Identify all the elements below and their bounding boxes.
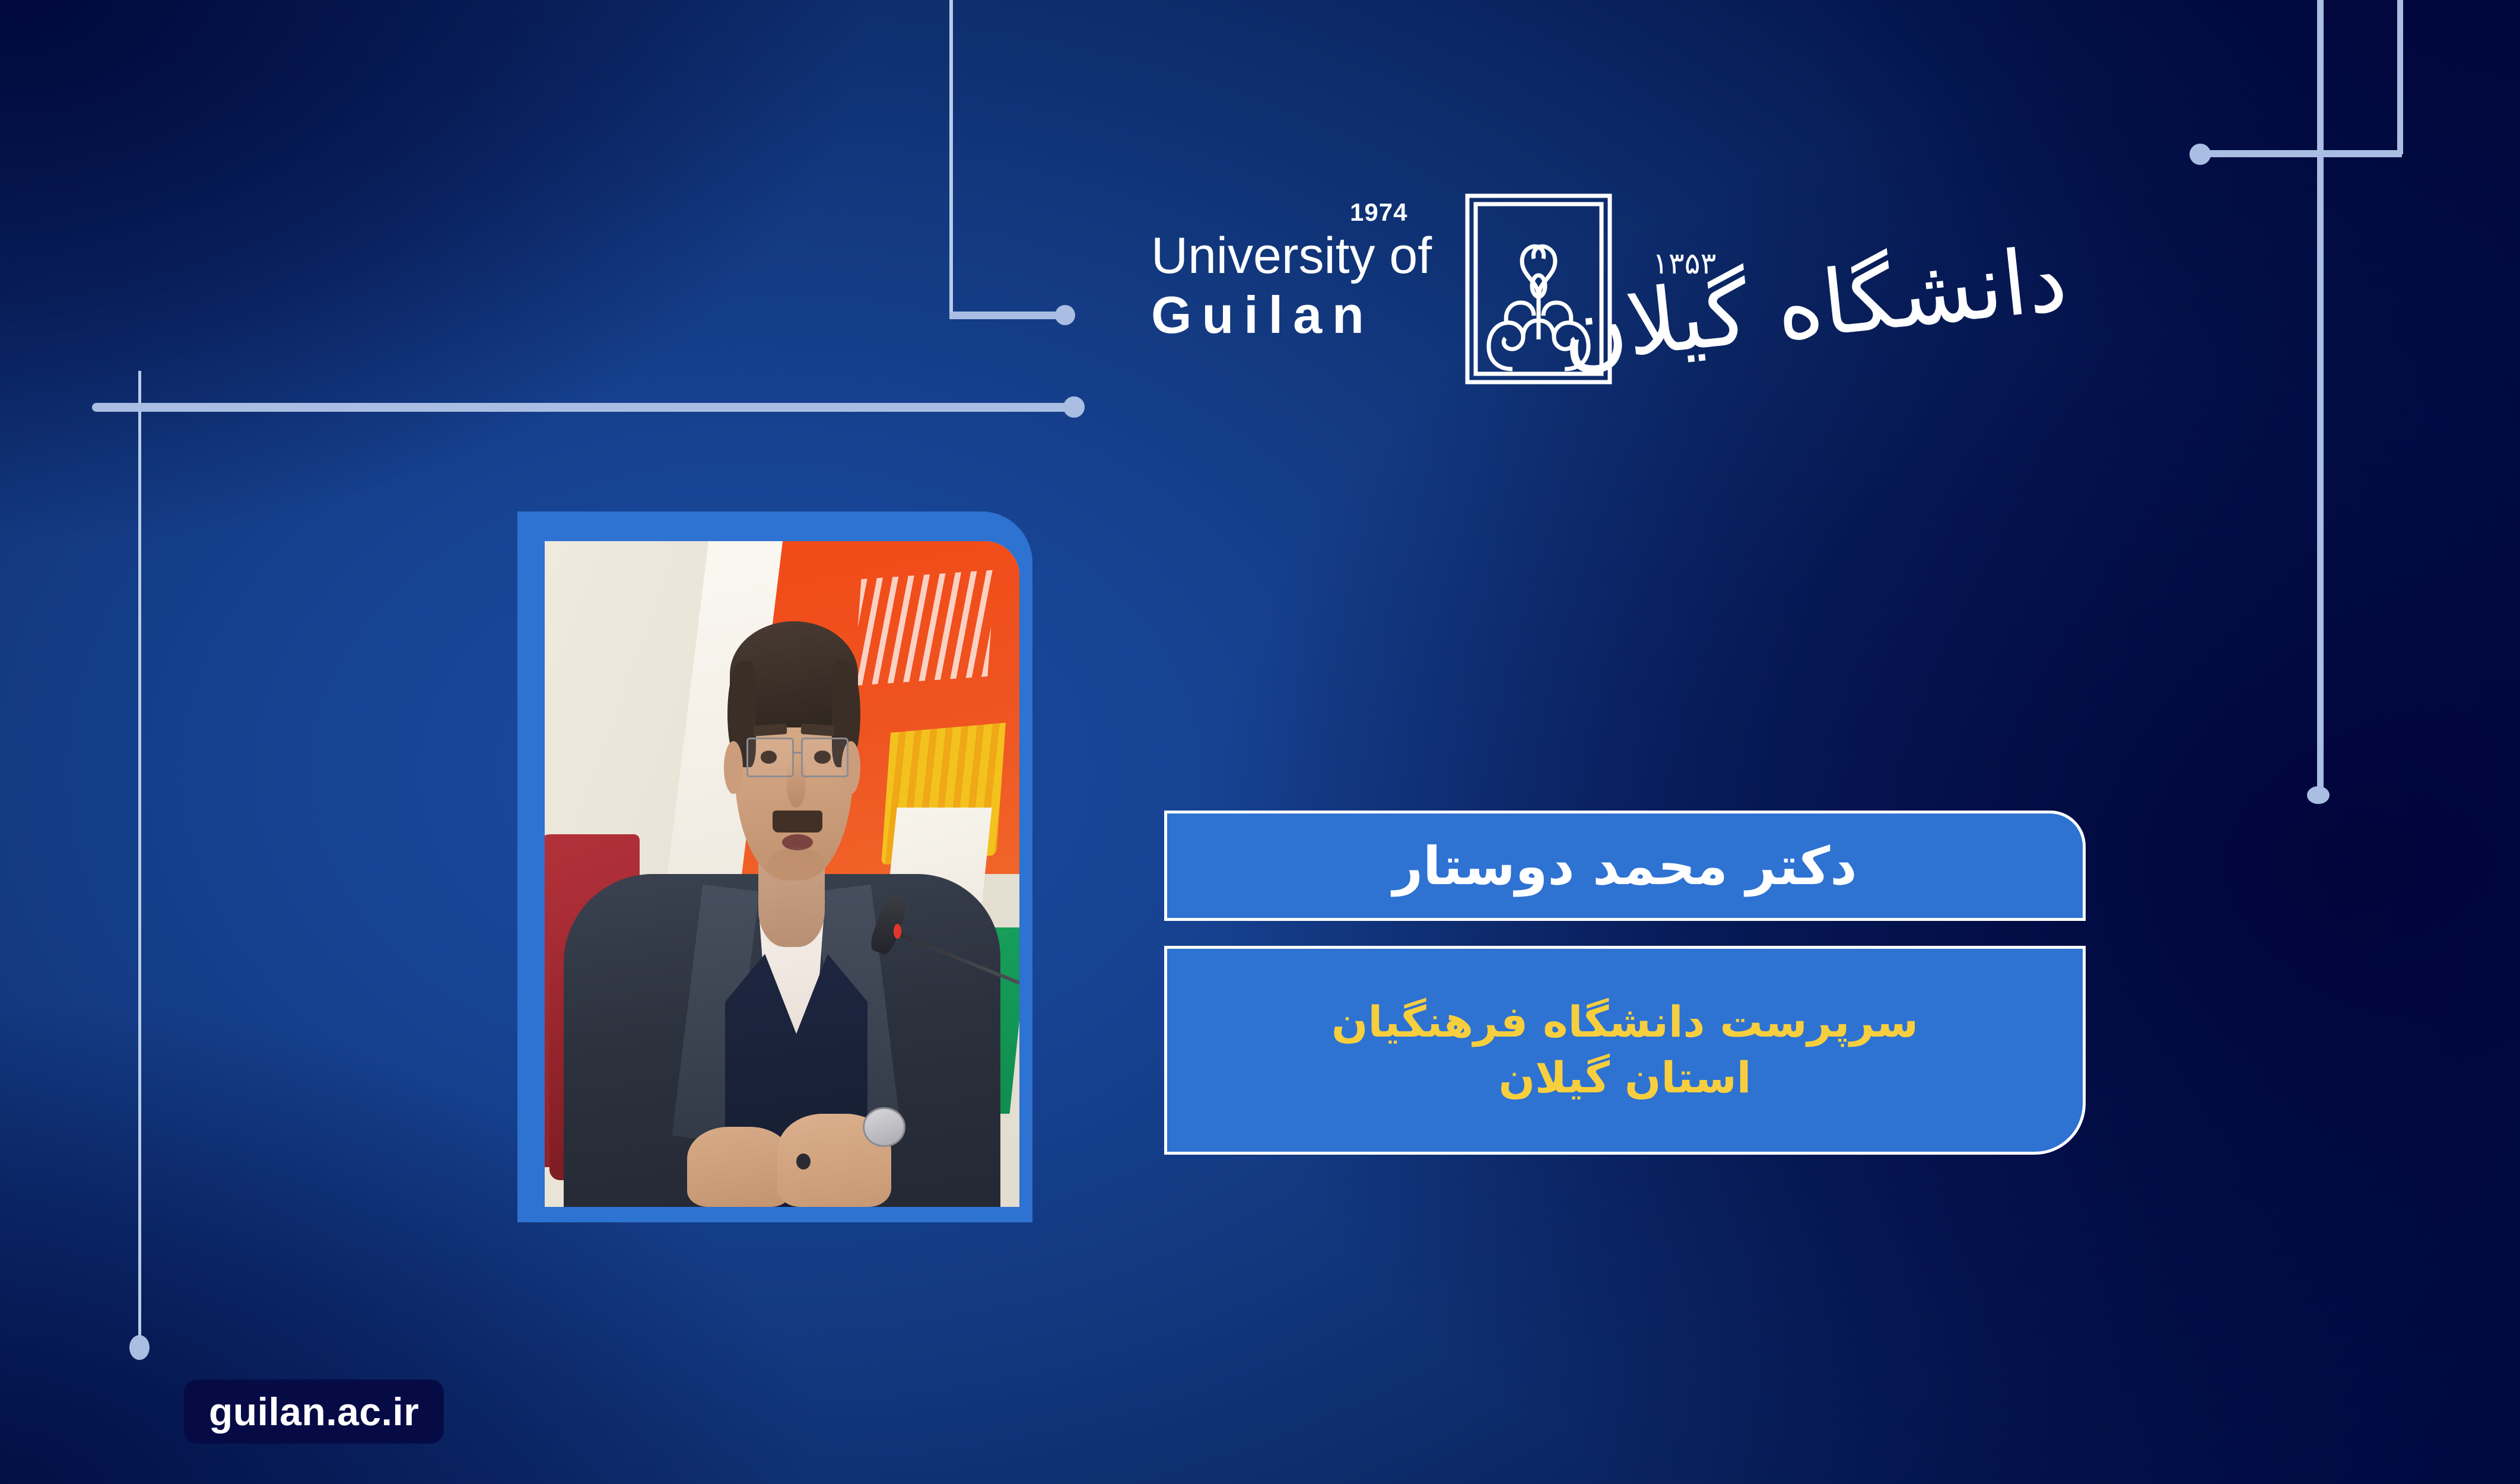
logo-persian-name: دانشگاه گیلان: [1711, 208, 2077, 416]
photo-moustache: [773, 811, 822, 832]
decor-dot-left-horizontal: [1063, 396, 1085, 418]
decor-dot-center-horizontal: [1055, 305, 1075, 325]
website-badge[interactable]: guilan.ac.ir: [184, 1380, 444, 1444]
person-title-line1: سرپرست دانشگاه فرهنگیان: [1331, 994, 1918, 1050]
website-url-text: guilan.ac.ir: [209, 1389, 419, 1434]
decor-vertical-line-right-upper: [2397, 0, 2403, 154]
decor-horizontal-line-right: [2200, 150, 2402, 157]
banner-canvas: 1974 University of Guilan ۱۳۵۳ دانش: [0, 0, 2520, 1484]
person-name-text: دکتر محمد دوستار: [1393, 835, 1857, 897]
decor-dot-right-vertical: [2307, 786, 2330, 804]
decor-dot-bottomleft: [129, 1335, 150, 1360]
decor-vertical-line-right-long: [2317, 0, 2324, 795]
photo-flag-script: [854, 570, 995, 685]
portrait-frame: [517, 511, 1032, 1222]
photo-eyebrow-right: [800, 723, 834, 736]
decor-horizontal-line-left: [92, 403, 1074, 412]
person-title-box: سرپرست دانشگاه فرهنگیان استان گیلان: [1164, 946, 2086, 1155]
university-logo: 1974 University of Guilan ۱۳۵۳ دانش: [1151, 196, 2065, 392]
photo-hand-left: [687, 1127, 792, 1207]
person-name-box: دکتر محمد دوستار: [1164, 811, 2086, 921]
photo-eyebrow-left: [753, 723, 787, 736]
decor-vertical-line-center: [949, 0, 953, 314]
photo-chin-shadow: [768, 847, 825, 881]
decor-horizontal-line-center: [949, 312, 1066, 319]
decor-vertical-line-bottomleft: [138, 1009, 141, 1341]
photo-eyeglass-bridge: [793, 752, 803, 754]
person-title-line2: استان گیلان: [1331, 1050, 1918, 1106]
logo-english-name: University of Guilan: [1151, 230, 1436, 341]
portrait-photo: [545, 541, 1019, 1207]
photo-nose: [787, 761, 806, 808]
logo-persian-name-text: دانشگاه گیلان: [1556, 228, 2072, 383]
photo-wristwatch: [863, 1107, 905, 1147]
logo-english-line1: University of: [1151, 227, 1432, 284]
photo-microphone-led: [894, 924, 901, 939]
logo-year-gregorian: 1974: [1350, 198, 1407, 227]
photo-ring: [796, 1153, 811, 1170]
logo-english-line2: Guilan: [1151, 288, 1436, 342]
photo-eyeglass-lens-right: [801, 738, 849, 777]
decor-dot-right-horizontal: [2189, 144, 2211, 165]
